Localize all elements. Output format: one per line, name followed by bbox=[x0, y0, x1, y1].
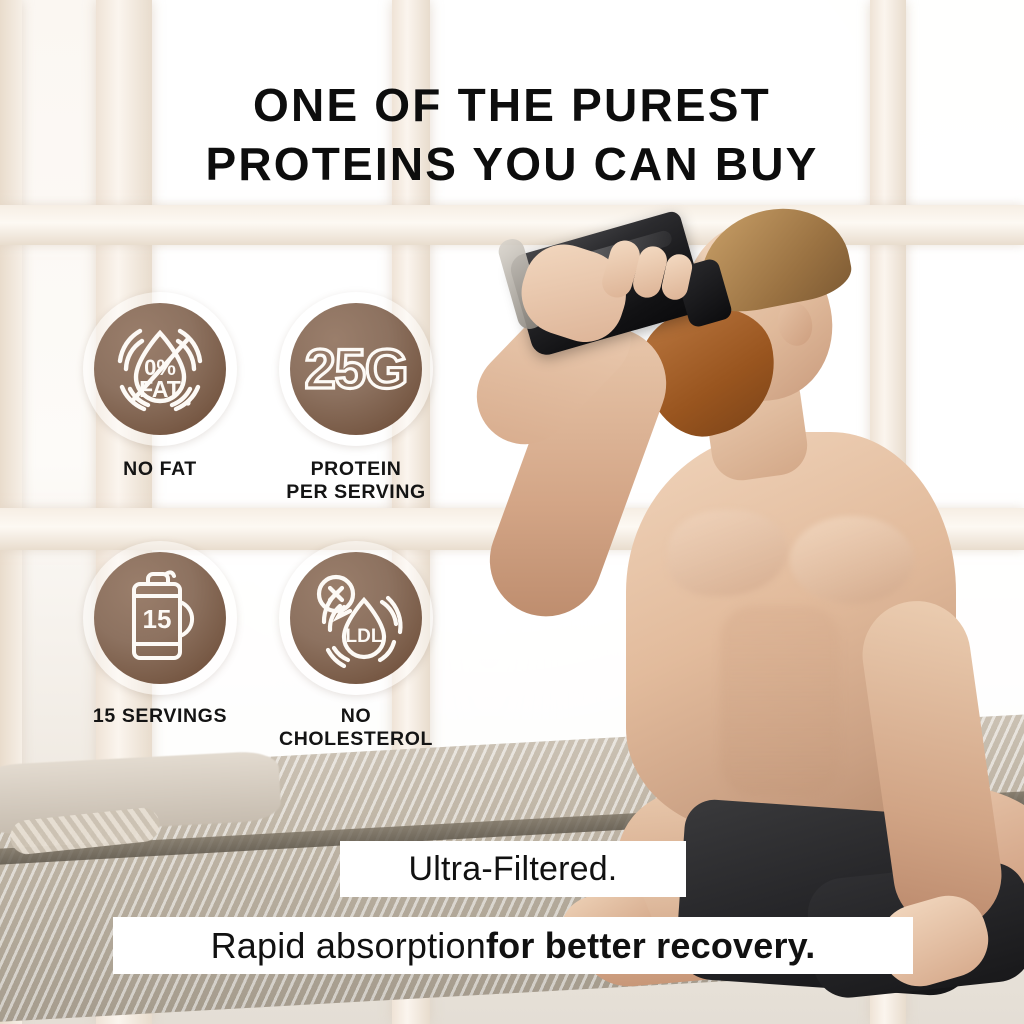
protein-grams-icon: 25G bbox=[300, 334, 412, 404]
badge-label: NO CHOLESTEROL bbox=[258, 705, 454, 750]
badge-label-line-1: 15 SERVINGS bbox=[93, 705, 227, 727]
infographic-canvas: ONE OF THE PUREST PROTEINS YOU CAN BUY bbox=[0, 0, 1024, 1024]
banner-ultra-filtered-text: Ultra-Filtered. bbox=[409, 850, 618, 889]
badge-ring: 0% FAT bbox=[83, 292, 237, 446]
badge-disc: 0% FAT bbox=[94, 303, 226, 435]
badge-ring: LDL bbox=[279, 541, 433, 695]
badge-icon-text-bottom: FAT bbox=[139, 376, 181, 402]
badge-label-line-2: PER SERVING bbox=[286, 481, 426, 503]
chest-highlight bbox=[790, 516, 914, 604]
droplet-no-fat-icon: 0% FAT bbox=[108, 317, 212, 421]
ldl-droplet-cross-icon: LDL bbox=[304, 566, 408, 670]
badge-row-1: 0% FAT NO FAT 25G bbox=[62, 292, 462, 503]
badge-no-cholesterol[interactable]: LDL NO CHOLESTEROL bbox=[258, 541, 454, 750]
badge-label: PROTEIN PER SERVING bbox=[258, 458, 454, 503]
badge-disc: 25G bbox=[290, 303, 422, 435]
headline-line-2: PROTEINS YOU CAN BUY bbox=[0, 135, 1024, 194]
badge-icon-text: LDL bbox=[346, 626, 383, 647]
headline-line-1: ONE OF THE PUREST bbox=[0, 76, 1024, 135]
badge-label-line-2: CHOLESTEROL bbox=[279, 728, 433, 750]
feature-badge-grid: 0% FAT NO FAT 25G bbox=[62, 292, 462, 750]
badge-label-line-1: NO bbox=[341, 705, 371, 727]
badge-icon-text: 25G bbox=[305, 337, 408, 400]
badge-15-servings[interactable]: 15 15 SERVINGS bbox=[62, 541, 258, 750]
badge-protein-per-serving[interactable]: 25G PROTEIN PER SERVING bbox=[258, 292, 454, 503]
banner-recovery-bold-text: for better recovery. bbox=[486, 925, 815, 967]
badge-no-fat[interactable]: 0% FAT NO FAT bbox=[62, 292, 258, 503]
banner-recovery: Rapid absorption for better recovery. bbox=[113, 917, 913, 974]
headline: ONE OF THE PUREST PROTEINS YOU CAN BUY bbox=[0, 76, 1024, 194]
badge-ring: 15 bbox=[83, 541, 237, 695]
badge-disc: 15 bbox=[94, 552, 226, 684]
abs-shading bbox=[720, 606, 840, 796]
badge-disc: LDL bbox=[290, 552, 422, 684]
banner-recovery-light-text: Rapid absorption bbox=[211, 925, 486, 967]
shaker-cup-icon: 15 bbox=[110, 566, 210, 670]
badge-label: NO FAT bbox=[62, 458, 258, 481]
badge-ring: 25G bbox=[279, 292, 433, 446]
badge-label-line-1: NO FAT bbox=[123, 458, 197, 480]
badge-icon-text: 15 bbox=[143, 604, 172, 634]
badge-row-2: 15 15 SERVINGS bbox=[62, 541, 462, 750]
badge-label-line-1: PROTEIN bbox=[311, 458, 402, 480]
person-drinking-shake bbox=[430, 210, 1024, 910]
badge-label: 15 SERVINGS bbox=[62, 705, 258, 728]
banner-ultra-filtered: Ultra-Filtered. bbox=[340, 841, 686, 897]
